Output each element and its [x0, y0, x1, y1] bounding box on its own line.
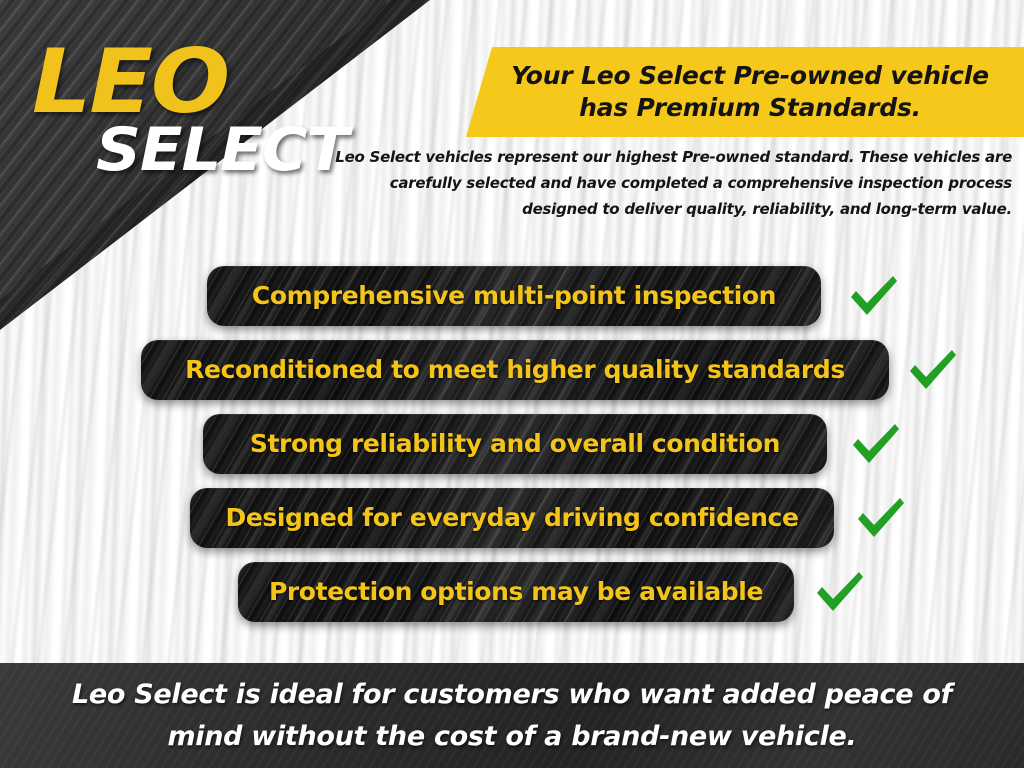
feature-row: Comprehensive multi-point inspection: [0, 266, 1024, 340]
feature-label: Protection options may be available: [269, 578, 763, 606]
headline-line-1: Your Leo Select Pre-owned vehicle: [511, 61, 989, 90]
feature-pill: Designed for everyday driving confidence: [190, 488, 834, 548]
description-paragraph: Leo Select vehicles represent our highes…: [312, 144, 1012, 222]
check-icon: [905, 344, 959, 398]
feature-row: Reconditioned to meet higher quality sta…: [0, 340, 1024, 414]
footer-banner: Leo Select is ideal for customers who wa…: [0, 663, 1024, 768]
check-icon: [812, 566, 866, 620]
feature-label: Designed for everyday driving confidence: [225, 504, 798, 532]
leo-select-promo-graphic: LEO SELECT Your Leo Select Pre-owned veh…: [0, 0, 1024, 768]
feature-row: Designed for everyday driving confidence: [0, 488, 1024, 562]
headline-banner: Your Leo Select Pre-owned vehicle has Pr…: [452, 47, 1024, 137]
feature-pill: Reconditioned to meet higher quality sta…: [141, 340, 889, 400]
headline-text: Your Leo Select Pre-owned vehicle has Pr…: [452, 60, 1024, 124]
feature-label: Reconditioned to meet higher quality sta…: [185, 356, 845, 384]
feature-label: Comprehensive multi-point inspection: [252, 282, 776, 310]
feature-row: Strong reliability and overall condition: [0, 414, 1024, 488]
feature-label: Strong reliability and overall condition: [250, 430, 780, 458]
feature-list: Comprehensive multi-point inspection Rec…: [0, 266, 1024, 636]
check-icon: [853, 492, 907, 546]
footer-text: Leo Select is ideal for customers who wa…: [62, 674, 962, 758]
feature-pill: Comprehensive multi-point inspection: [207, 266, 821, 326]
check-icon: [848, 418, 902, 472]
check-icon: [846, 270, 900, 324]
feature-row: Protection options may be available: [0, 562, 1024, 636]
feature-pill: Strong reliability and overall condition: [203, 414, 827, 474]
feature-pill: Protection options may be available: [238, 562, 794, 622]
headline-line-2: has Premium Standards.: [579, 93, 921, 122]
